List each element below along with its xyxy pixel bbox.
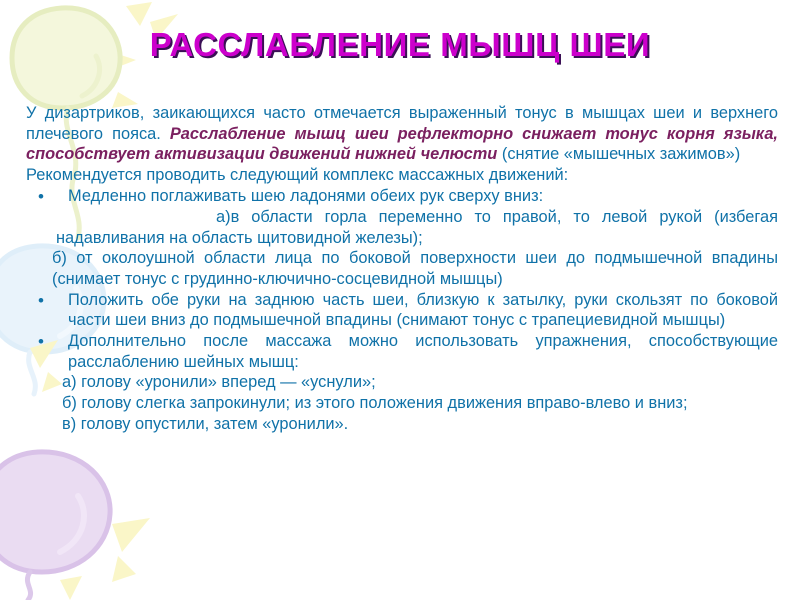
bullet-icon: • xyxy=(26,290,68,311)
list-item-text: Дополнительно после массажа можно исполь… xyxy=(68,331,778,372)
list-item: • Положить обе руки на заднюю часть шеи,… xyxy=(26,290,778,331)
sub-item-text: а)в области горла переменно то правой, т… xyxy=(26,207,778,248)
recommendation-paragraph: Рекомендуется проводить следующий компле… xyxy=(26,165,778,186)
title-block: РАССЛАБЛЕНИЕ МЫШЦ ШЕИ xyxy=(0,28,800,63)
list-item: • Медленно поглаживать шею ладонями обеи… xyxy=(26,186,778,207)
bullet-icon: • xyxy=(26,186,68,207)
list-item: • Дополнительно после массажа можно испо… xyxy=(26,331,778,372)
sub-item-text: б) от околоушной области лица по боковой… xyxy=(26,248,778,289)
intro-paragraph: У дизартриков, заикающихся часто отмечае… xyxy=(26,103,778,165)
balloon-lilac-icon xyxy=(0,452,110,600)
sub-item-text: а) голову «уронили» вперед — «уснули»; xyxy=(26,372,778,393)
slide-canvas: РАССЛАБЛЕНИЕ МЫШЦ ШЕИ У дизартриков, заи… xyxy=(0,0,800,600)
slide-body: У дизартриков, заикающихся часто отмечае… xyxy=(26,103,778,434)
sub-item-text: в) голову опустили, затем «уронили». xyxy=(26,414,778,435)
sub-item-text: б) голову слегка запрокинули; из этого п… xyxy=(26,393,778,414)
page-title: РАССЛАБЛЕНИЕ МЫШЦ ШЕИ xyxy=(150,28,650,63)
intro-text-2: (снятие «мышечных зажимов») xyxy=(497,145,740,163)
bullet-icon: • xyxy=(26,331,68,352)
list-item-text: Положить обе руки на заднюю часть шеи, б… xyxy=(68,290,778,331)
list-item-text: Медленно поглаживать шею ладонями обеих … xyxy=(68,186,778,207)
